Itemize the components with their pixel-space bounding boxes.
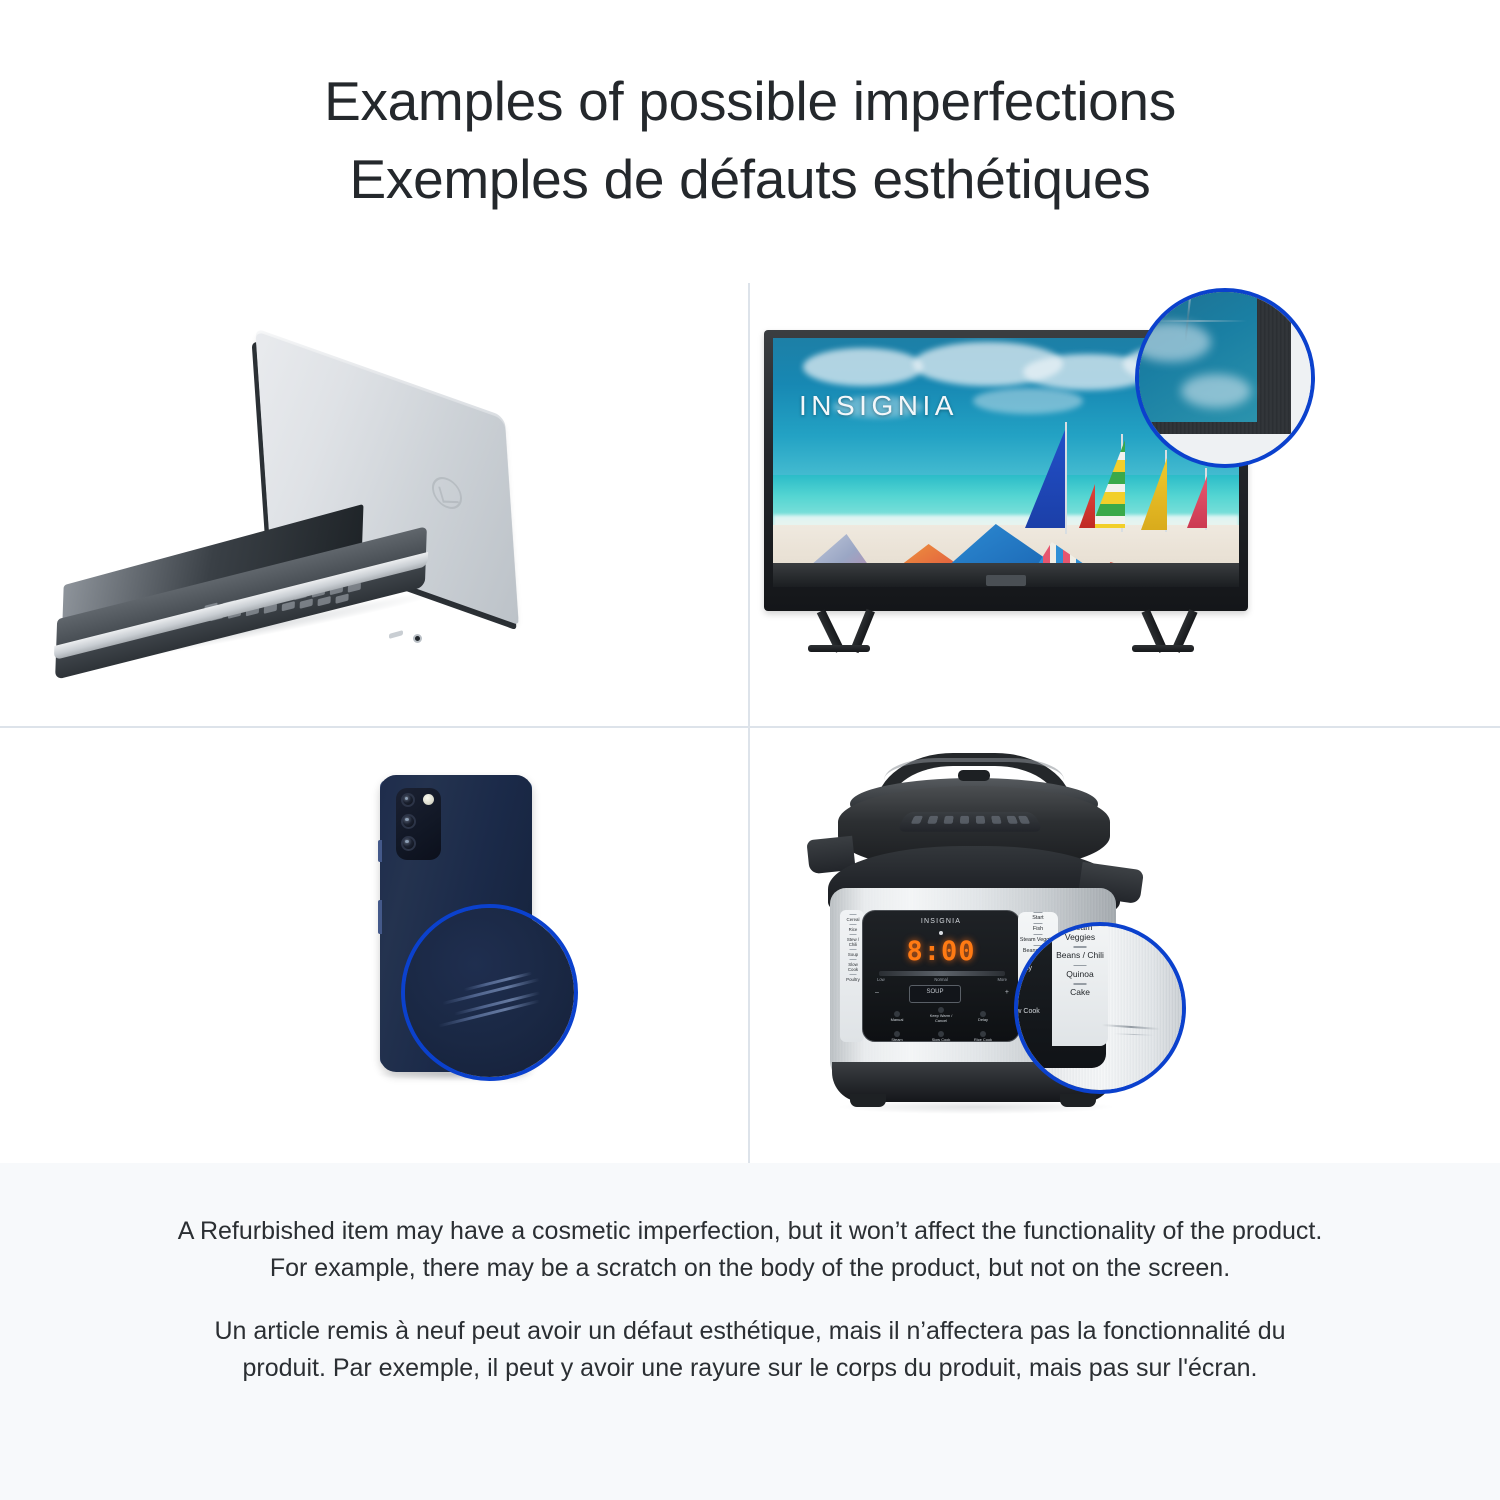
cooker-left-button-strip: Cereal Rice Stew / Chili Soup Slow Cook … <box>843 914 863 1038</box>
cooker-keypad-label[interactable]: Slow Cook <box>932 1037 951 1042</box>
cooker-minus-button[interactable]: – <box>875 989 879 996</box>
header: Examples of possible imperfections Exemp… <box>0 0 1500 283</box>
imperfections-infographic: Examples of possible imperfections Exemp… <box>0 0 1500 1500</box>
cooker-pressure-bar <box>879 971 1005 976</box>
page-title-fr: Exemples de défauts esthétiques <box>350 140 1151 218</box>
cooker-right-button[interactable]: Start <box>1018 912 1058 923</box>
phone-camera-lens-2 <box>401 814 416 829</box>
cooker-plus-button[interactable]: + <box>1005 989 1009 996</box>
tv-center-badge <box>986 575 1026 586</box>
cooker-magnified-left-label: Slow Cook <box>1014 1007 1040 1016</box>
footer-description: A Refurbished item may have a cosmetic i… <box>0 1163 1500 1500</box>
tv-foot-left <box>808 645 870 652</box>
television-illustration: INSIGNIA <box>750 283 1500 726</box>
cooker-magnified-surface: Delay Slow Cook Steam Veggies Beans / Ch… <box>1014 922 1186 1094</box>
laptop-headphone-jack <box>413 634 422 643</box>
cooker-magnified-button[interactable]: Steam Veggies <box>1052 922 1108 946</box>
cell-laptop <box>0 283 748 726</box>
tv-scuff-mark-secondary <box>1151 320 1247 322</box>
laptop-usb-port <box>389 630 403 639</box>
phone-camera-module <box>396 788 441 860</box>
cooker-magnified-button[interactable]: Cake <box>1052 983 1108 1002</box>
cooker-bar-label: More <box>997 977 1007 982</box>
phone-camera-lens-1 <box>401 793 415 807</box>
cooker-bar-label: Normal <box>934 977 948 982</box>
cooker-magnified-button[interactable]: Quinoa <box>1052 965 1108 984</box>
laptop-illustration <box>0 283 748 726</box>
tv-screen-brand-logo: INSIGNIA <box>799 390 958 422</box>
cooker-control-panel: INSIGNIA 8:00 Low Normal More – SOUP + <box>862 910 1020 1042</box>
tv-magnified-surface <box>1135 288 1315 468</box>
cooker-pressure-bar-labels: Low Normal More <box>877 977 1007 982</box>
tv-magnified-screen <box>1135 288 1257 422</box>
cooker-magnified-button[interactable]: Beans / Chili <box>1052 946 1108 965</box>
cell-television: INSIGNIA <box>750 283 1500 726</box>
cooker-steam-valve <box>958 770 990 781</box>
cooker-lcd-display: 8:00 <box>906 938 975 965</box>
cooker-leg-left <box>850 1094 886 1107</box>
cooker-magnified-button-strip: Steam Veggies Beans / Chili Quinoa Cake <box>1052 922 1108 1046</box>
tv-magnifier-circle <box>1135 288 1315 468</box>
cooker-keypad-label[interactable]: Rice Cook <box>974 1037 992 1042</box>
cooker-brand-logo: INSIGNIA <box>921 918 961 925</box>
cooker-keypad-label[interactable]: Manual <box>891 1017 904 1022</box>
cooker-magnified-left-labels: Delay Slow Cook <box>1014 964 1040 1016</box>
tv-foot-right <box>1132 645 1194 652</box>
cooker-bar-label: Low <box>877 977 885 982</box>
examples-grid: INSIGNIA <box>0 283 1500 1163</box>
description-en: A Refurbished item may have a cosmetic i… <box>170 1213 1330 1287</box>
phone-magnified-surface <box>401 904 578 1081</box>
cooker-left-button[interactable]: Rice <box>843 924 863 934</box>
cooker-keypad-label[interactable]: Delay <box>978 1017 988 1022</box>
cooker-left-button[interactable]: Soup <box>843 949 863 959</box>
cooker-left-button[interactable]: Cereal <box>843 914 863 924</box>
cooker-leg-right <box>1060 1094 1096 1107</box>
description-fr: Un article remis à neuf peut avoir un dé… <box>170 1313 1330 1387</box>
phone-magnifier-circle <box>401 904 578 1081</box>
cell-pressure-cooker: Cereal Rice Stew / Chili Soup Slow Cook … <box>750 728 1500 1163</box>
cooker-keypad-label[interactable]: Steam <box>891 1037 902 1042</box>
cooker-lid-panel <box>896 812 1044 832</box>
cooker-indicator-led <box>939 931 943 935</box>
phone-camera-lens-3 <box>401 836 416 851</box>
tv-bottom-bezel <box>773 563 1239 587</box>
cooker-left-button[interactable]: Stew / Chili <box>843 934 863 949</box>
phone-volume-button <box>378 840 382 862</box>
phone-power-button <box>378 900 382 934</box>
smartphone-illustration <box>0 728 748 1163</box>
cooker-secondary-display-text: SOUP <box>926 989 943 995</box>
cooker-magnified-left-label: Delay <box>1014 964 1040 973</box>
cooker-left-button[interactable]: Poultry <box>843 974 863 984</box>
phone-camera-flash-icon <box>423 794 434 805</box>
page-title-en: Examples of possible imperfections <box>324 62 1176 140</box>
cell-smartphone <box>0 728 748 1163</box>
cooker-secondary-display: SOUP <box>909 985 961 1003</box>
cooker-left-button[interactable]: Slow Cook <box>843 959 863 974</box>
cooker-keypad-label[interactable]: Keep Warm / Cancel <box>930 1013 953 1023</box>
cooker-magnifier-circle: Delay Slow Cook Steam Veggies Beans / Ch… <box>1014 922 1186 1094</box>
